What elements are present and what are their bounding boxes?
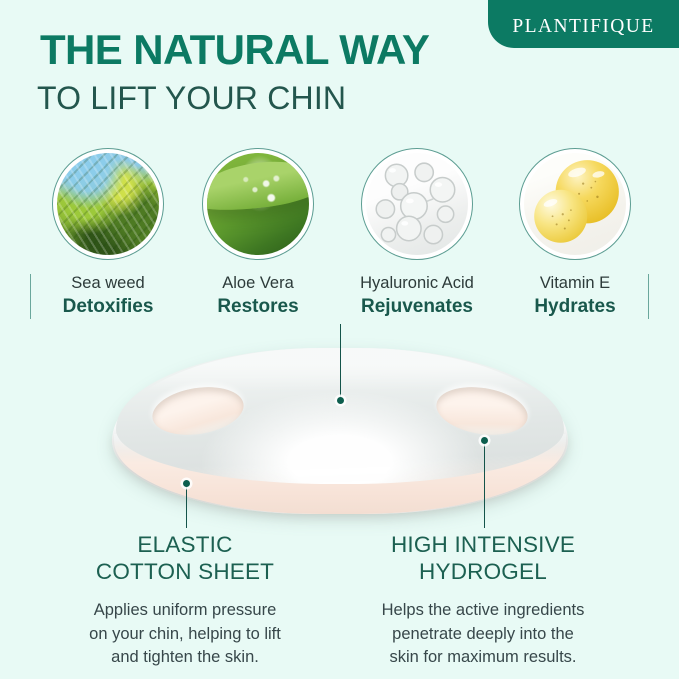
brand-name: PLANTIFIQUE	[512, 16, 654, 38]
ingredient-name: Aloe Vera	[178, 274, 338, 293]
feature-desc-line2: on your chin, helping to lift	[40, 623, 330, 646]
feature-desc-line2: penetrate deeply into the	[338, 623, 628, 646]
ingredients-row: Sea weed Detoxifies Aloe Vera Restores	[0, 148, 679, 323]
ingredient-image-frame	[519, 148, 631, 260]
page-title: THE NATURAL WAY	[40, 29, 429, 71]
ingredient-aloe-vera: Aloe Vera Restores	[178, 148, 338, 318]
ingredient-hyaluronic-acid: Hyaluronic Acid Rejuvenates	[337, 148, 497, 318]
oil-droplets-illustration	[524, 153, 626, 255]
hyaluronic-acid-molecules-photo-icon	[366, 153, 468, 255]
bubbles-illustration	[366, 153, 468, 255]
pointer-line-hydrogel-right	[484, 441, 485, 528]
pointer-line-cotton-sheet	[186, 484, 187, 528]
ingredient-benefit: Detoxifies	[28, 296, 188, 318]
infographic-page: PLANTIFIQUE THE NATURAL WAY TO LIFT YOUR…	[0, 0, 679, 679]
ingredient-benefit: Restores	[178, 296, 338, 318]
feature-title-line2: HYDROGEL	[338, 559, 628, 586]
pointer-dot-hydrogel-top	[337, 397, 344, 404]
aloe-vera-photo-icon	[207, 153, 309, 255]
pointer-dot-hydrogel-right	[481, 437, 488, 444]
feature-desc-line3: skin for maximum results.	[338, 646, 628, 669]
page-subtitle: TO LIFT YOUR CHIN	[37, 82, 346, 114]
feature-desc-line3: and tighten the skin.	[40, 646, 330, 669]
feature-title: ELASTIC COTTON SHEET	[40, 532, 330, 585]
feature-description: Applies uniform pressure on your chin, h…	[40, 599, 330, 669]
pointer-dot-cotton-sheet	[183, 480, 190, 487]
ingredient-divider-right	[648, 274, 649, 319]
feature-title-line1: HIGH INTENSIVE	[338, 532, 628, 559]
feature-desc-line1: Helps the active ingredients	[338, 599, 628, 622]
ingredient-benefit: Rejuvenates	[337, 296, 497, 318]
ingredient-vitamin-e: Vitamin E Hydrates	[495, 148, 655, 318]
ingredient-image-frame	[361, 148, 473, 260]
brand-badge: PLANTIFIQUE	[488, 0, 679, 48]
ingredient-name: Sea weed	[28, 274, 188, 293]
feature-title-line1: ELASTIC	[40, 532, 330, 559]
ingredient-divider-left	[30, 274, 31, 319]
pointer-line-hydrogel-top	[340, 324, 341, 401]
feature-description: Helps the active ingredients penetrate d…	[338, 599, 628, 669]
feature-elastic-cotton-sheet: ELASTIC COTTON SHEET Applies uniform pre…	[40, 532, 330, 669]
feature-title: HIGH INTENSIVE HYDROGEL	[338, 532, 628, 585]
feature-high-intensive-hydrogel: HIGH INTENSIVE HYDROGEL Helps the active…	[338, 532, 628, 669]
feature-desc-line1: Applies uniform pressure	[40, 599, 330, 622]
seaweed-photo-icon	[57, 153, 159, 255]
ingredient-name: Vitamin E	[495, 274, 655, 293]
ingredient-name: Hyaluronic Acid	[337, 274, 497, 293]
ingredient-sea-weed: Sea weed Detoxifies	[28, 148, 188, 318]
feature-title-line2: COTTON SHEET	[40, 559, 330, 586]
ingredient-image-frame	[202, 148, 314, 260]
ingredient-benefit: Hydrates	[495, 296, 655, 318]
ingredient-image-frame	[52, 148, 164, 260]
vitamin-e-oil-droplets-photo-icon	[524, 153, 626, 255]
